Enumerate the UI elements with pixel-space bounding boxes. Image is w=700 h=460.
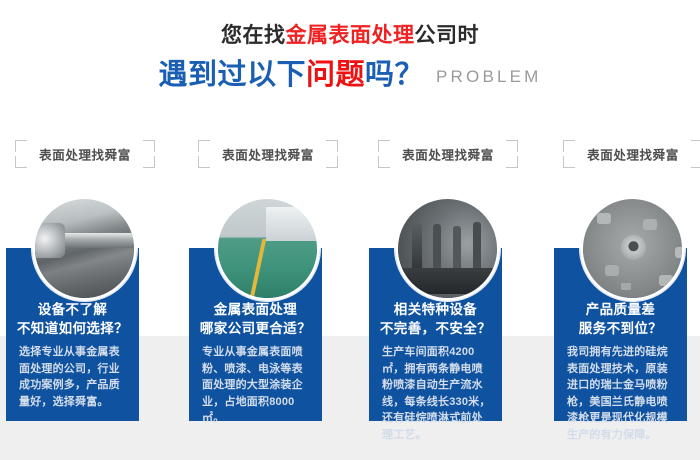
card-heading-line1: 金属表面处理 [189, 300, 322, 319]
factory-corridor-image [218, 199, 317, 298]
bracket-label-text: 表面处理找舜富 [563, 145, 700, 164]
metal-parts-image [398, 199, 497, 298]
card-heading-line2: 不知道如何选择？ [6, 319, 139, 338]
factory-corridor-photo [215, 196, 320, 301]
bracket-label-text: 表面处理找舜富 [15, 145, 155, 164]
bracket-label-text: 表面处理找舜富 [378, 145, 518, 164]
problem-card[interactable]: 表面处理找舜富 产品质量差 服务不到位？ 我司拥有先进的硅烷表面处理技术，原装进… [554, 0, 700, 460]
lathe-machine-image [35, 199, 134, 298]
card-heading-line2: 哪家公司更合适？ [189, 319, 322, 338]
bracket-label: 表面处理找舜富 [15, 140, 155, 168]
metal-parts-photo [395, 196, 500, 301]
bracket-label: 表面处理找舜富 [378, 140, 518, 168]
lathe-machine-photo [32, 196, 137, 301]
problem-card[interactable]: 表面处理找舜富 金属表面处理 哪家公司更合适？ 专业从事金属表面喷粉、喷漆、电泳… [189, 0, 354, 460]
card-heading: 金属表面处理 哪家公司更合适？ [189, 300, 322, 338]
bracket-label: 表面处理找舜富 [563, 140, 700, 168]
bolts-and-nuts-image [583, 199, 682, 298]
problem-cards-row: 表面处理找舜富 设备不了解 不知道如何选择？ 选择专业从事金属表面处理的公司，行… [0, 0, 700, 460]
bracket-label-text: 表面处理找舜富 [198, 145, 338, 164]
card-heading-line1: 设备不了解 [6, 300, 139, 319]
card-body-text: 选择专业从事金属表面处理的公司，行业成功案例多，产品质量好，选择舜富。 [19, 344, 129, 410]
card-heading-line1: 相关特种设备 [369, 300, 502, 319]
card-heading-line2: 不完善，不安全？ [369, 319, 502, 338]
card-heading-line1: 产品质量差 [554, 300, 687, 319]
card-heading: 产品质量差 服务不到位？ [554, 300, 687, 338]
problem-card[interactable]: 表面处理找舜富 设备不了解 不知道如何选择？ 选择专业从事金属表面处理的公司，行… [6, 0, 171, 460]
card-heading-line2: 服务不到位？ [554, 319, 687, 338]
card-heading: 相关特种设备 不完善，不安全？ [369, 300, 502, 338]
card-body-text: 我司拥有先进的硅烷表面处理技术，原装进口的瑞士金马喷粉枪，美国兰氏静电喷漆枪更是… [567, 344, 677, 443]
problem-card[interactable]: 表面处理找舜富 相关特种设备 不完善，不安全？ 生产车间面积4200㎡，拥有两条… [369, 0, 534, 460]
card-heading: 设备不了解 不知道如何选择？ [6, 300, 139, 338]
bracket-label: 表面处理找舜富 [198, 140, 338, 168]
card-body-text: 专业从事金属表面喷粉、喷漆、电泳等表面处理的大型涂装企业，占地面积8000㎡。 [202, 344, 312, 427]
card-body-text: 生产车间面积4200㎡，拥有两条静电喷粉喷漆自动生产流水线，每条线长330米，还… [382, 344, 492, 443]
bolts-and-nuts-photo [580, 196, 685, 301]
